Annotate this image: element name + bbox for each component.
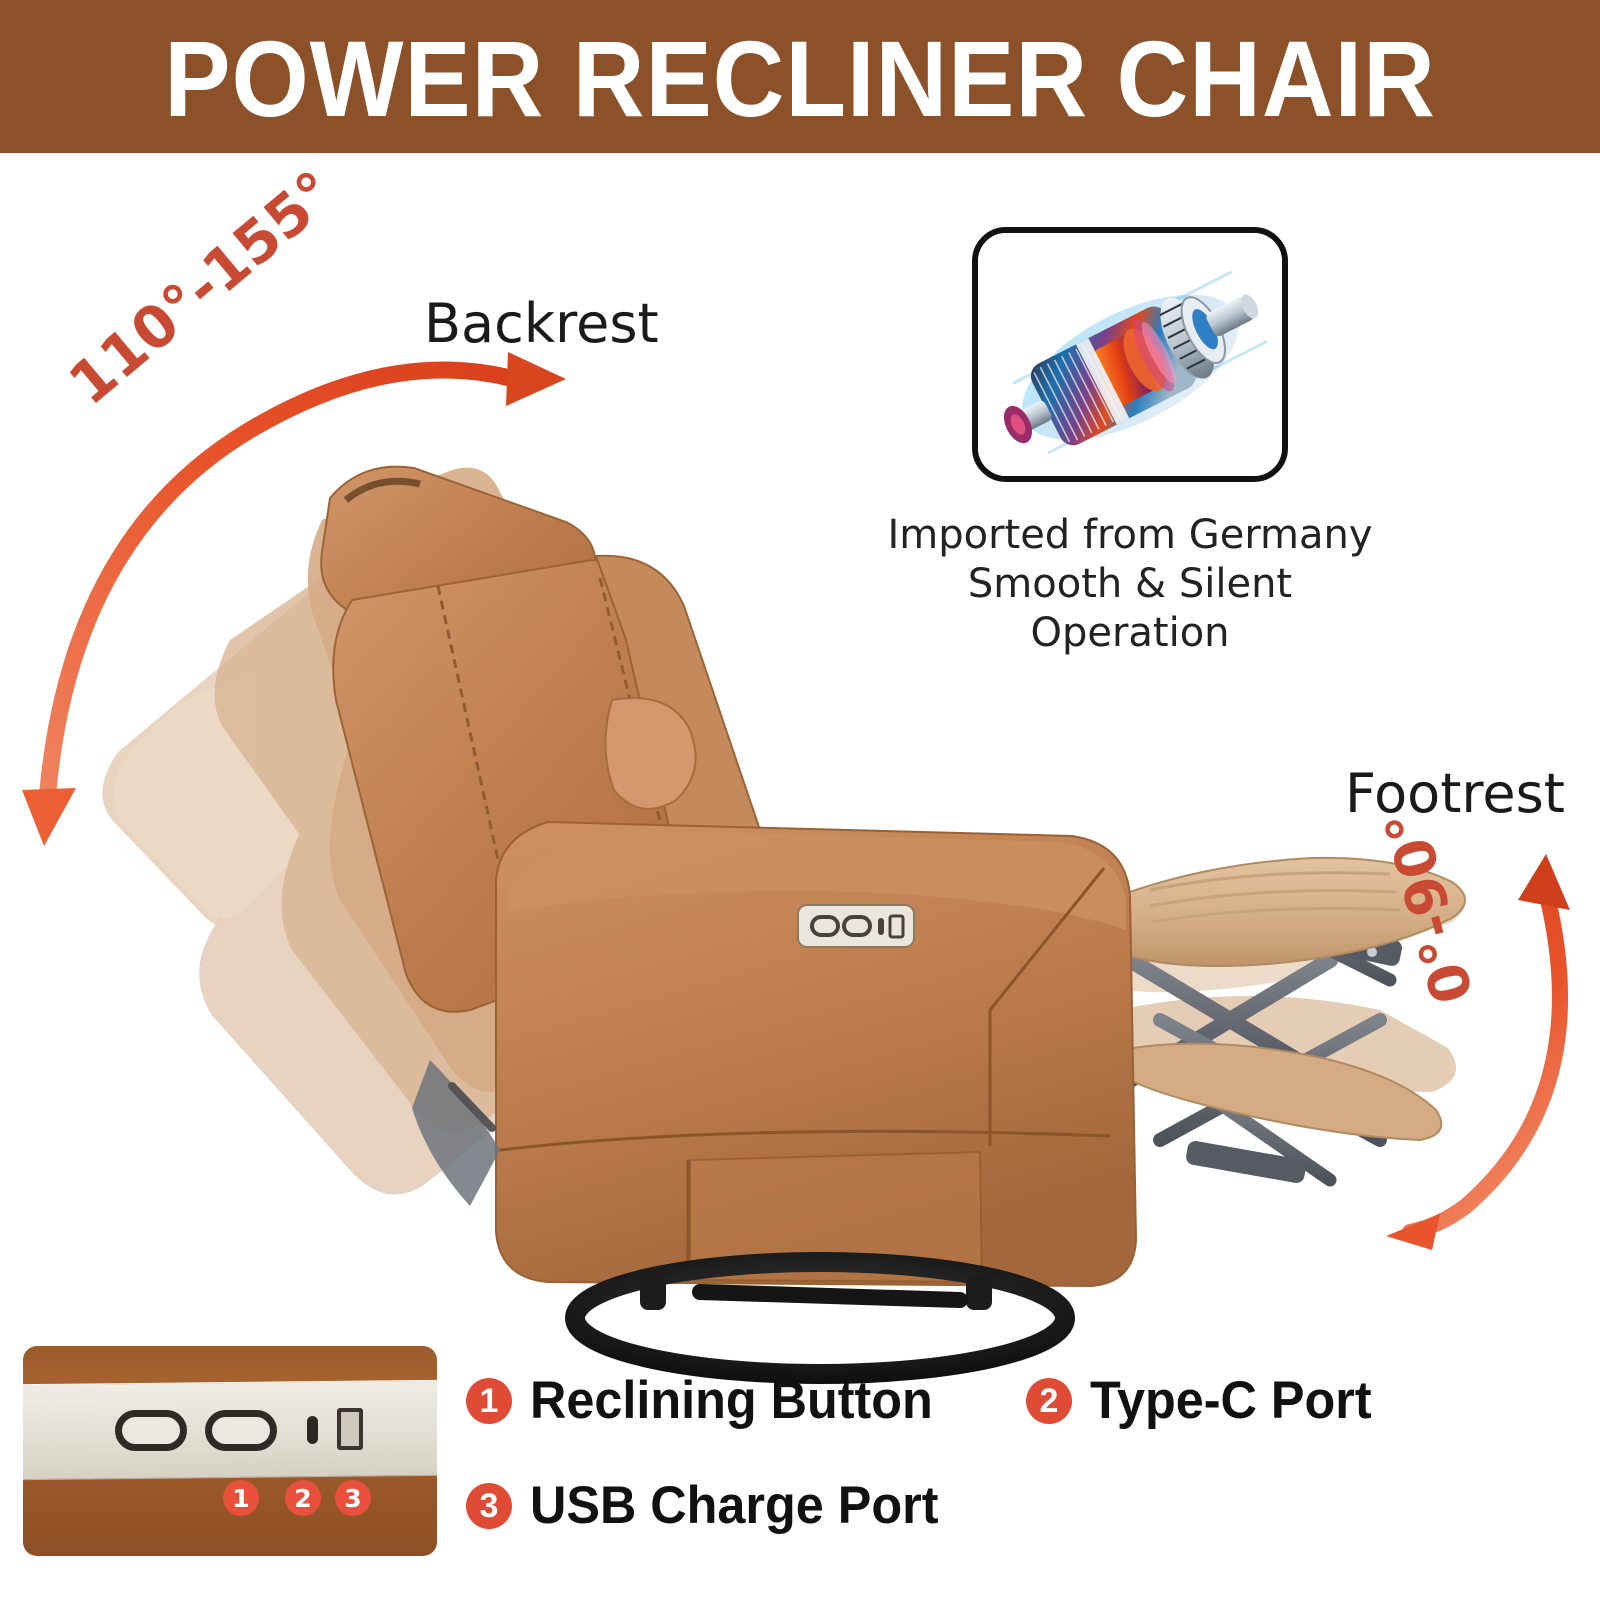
backrest-ghost-position-2 — [215, 512, 718, 1132]
reclining-button-icon-left — [812, 917, 838, 935]
footrest-metal-mechanism — [1130, 900, 1390, 1180]
backrest-label: Backrest — [424, 292, 659, 355]
motor-caption-line-2: Smooth & Silent Operation — [880, 560, 1380, 658]
footrest-metal-brackets — [1185, 919, 1404, 1185]
legend-label-1: Reclining Button — [530, 1370, 933, 1431]
arrowhead-backrest-down — [22, 788, 76, 846]
arrowhead-backrest-up — [506, 352, 566, 406]
footrest-label: Footrest — [1345, 762, 1565, 825]
arrowhead-footrest-down — [1386, 1214, 1440, 1250]
chair-backrest-main — [321, 467, 764, 1012]
legend-item-usb-charge-port: 3 USB Charge Port — [466, 1475, 960, 1536]
infographic-page: POWER RECLINER CHAIR — [0, 0, 1600, 1600]
motor-caption-line-1: Imported from Germany — [880, 511, 1380, 560]
legend-badge-2: 2 — [1026, 1378, 1072, 1424]
backrest-ghost-position-3 — [308, 468, 743, 1092]
page-title: POWER RECLINER CHAIR — [164, 21, 1435, 133]
reclining-button-icon-right — [844, 917, 870, 935]
legend-label-2: Type-C Port — [1090, 1370, 1372, 1431]
reclining-oval-button-right[interactable] — [205, 1410, 277, 1451]
legend-badge-3: 3 — [466, 1483, 512, 1529]
chair-control-panel — [798, 905, 914, 947]
panel-badge-2: 2 — [285, 1480, 321, 1516]
control-panel-closeup: 1 2 3 — [23, 1346, 437, 1556]
panel-badge-3: 3 — [335, 1480, 371, 1516]
motor-feature-card — [972, 227, 1288, 482]
backrest-ghost-position-1 — [102, 587, 662, 1194]
usb-port-icon — [890, 916, 903, 937]
backrest-range-arrow — [22, 352, 566, 846]
legend-badge-1: 1 — [466, 1378, 512, 1424]
electric-motor-cutaway-icon — [978, 233, 1288, 482]
chair-arm-and-seat — [496, 822, 1136, 1286]
usb-a-port-icon — [337, 1408, 363, 1450]
arrowhead-footrest-up — [1518, 854, 1570, 910]
type-c-port-icon — [307, 1416, 318, 1444]
footrest-angle-value: 0°-90° — [1373, 804, 1487, 1010]
chair-swivel-base — [575, 1262, 1065, 1374]
footrest-ghost-position-2 — [1103, 996, 1456, 1092]
footrest-cushion-lower — [1108, 1044, 1442, 1140]
reclining-oval-button-left[interactable] — [115, 1410, 187, 1451]
backrest-hinge-mechanism — [412, 1060, 500, 1206]
panel-badge-1: 1 — [223, 1480, 259, 1516]
type-c-port-icon — [878, 918, 884, 935]
legend-item-reclining-button: 1 Reclining Button — [466, 1370, 954, 1431]
backrest-angle-value: 110°-155° — [56, 158, 348, 418]
header-banner: POWER RECLINER CHAIR — [0, 0, 1600, 153]
legend-label-3: USB Charge Port — [530, 1475, 938, 1536]
motor-feature-caption: Imported from Germany Smooth & Silent Op… — [880, 511, 1380, 657]
legend-item-type-c-port: 2 Type-C Port — [1026, 1370, 1386, 1431]
